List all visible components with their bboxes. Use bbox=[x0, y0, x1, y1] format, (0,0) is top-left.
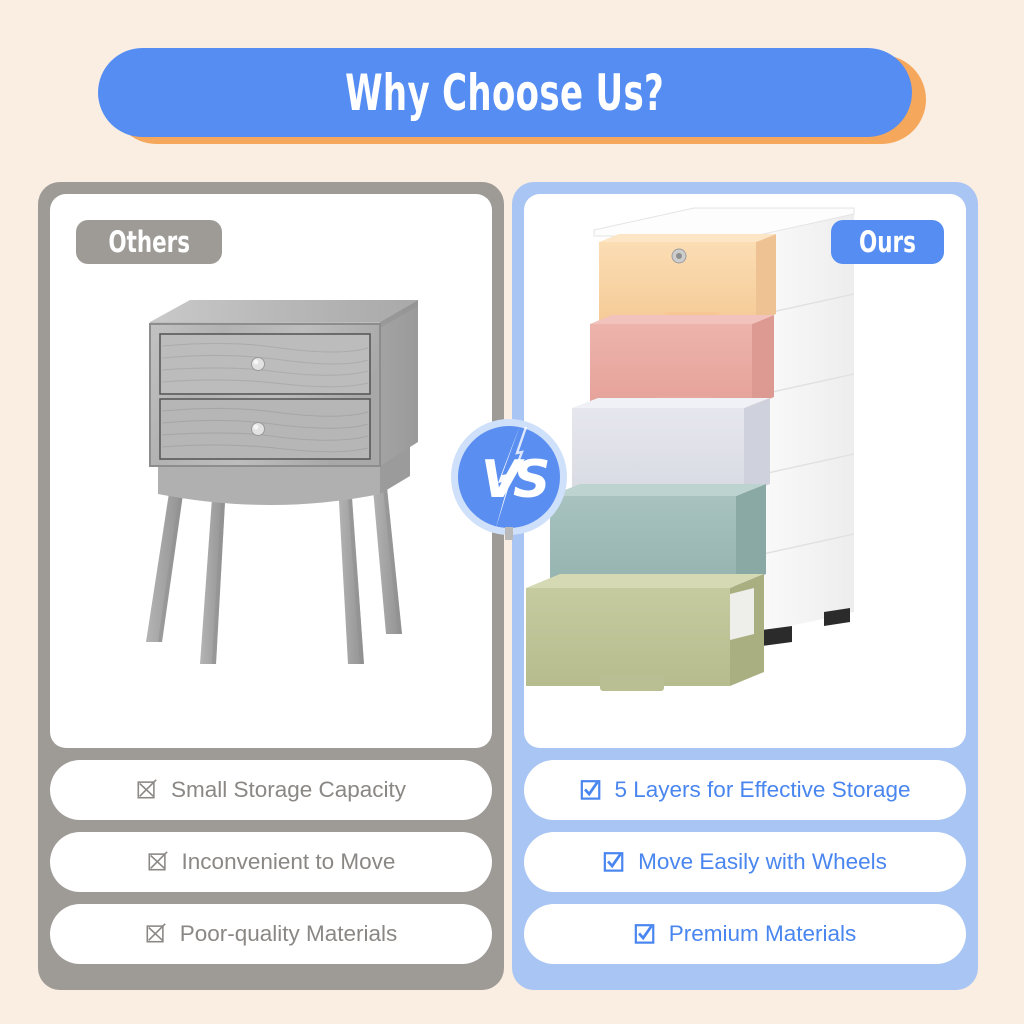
drawer-1 bbox=[599, 234, 776, 326]
crossed-box-icon bbox=[136, 778, 158, 800]
drawer-2 bbox=[590, 315, 774, 410]
ours-feature-list: 5 Layers for Effective Storage Move Easi… bbox=[524, 760, 966, 964]
panel-others: Others bbox=[38, 182, 504, 990]
drawer-5 bbox=[526, 574, 764, 691]
crossed-box-icon bbox=[145, 922, 167, 944]
list-item[interactable]: Poor-quality Materials bbox=[50, 904, 492, 964]
drawer-3 bbox=[572, 398, 770, 498]
checked-box-icon bbox=[603, 850, 625, 872]
badge-ours-label: Ours bbox=[859, 228, 916, 257]
others-image-card: Others bbox=[50, 194, 492, 748]
product-image-nightstand bbox=[50, 194, 492, 748]
infographic-canvas: Why Choose Us? Others bbox=[0, 0, 1024, 1024]
badge-others: Others bbox=[76, 220, 222, 264]
checked-box-icon bbox=[634, 922, 656, 944]
list-item[interactable]: Premium Materials bbox=[524, 904, 966, 964]
list-item-label: Small Storage Capacity bbox=[171, 779, 406, 802]
header-banner: Why Choose Us? bbox=[98, 48, 926, 144]
checked-box-icon bbox=[580, 778, 602, 800]
panel-ours: Ours bbox=[512, 182, 978, 990]
versus-badge: V S bbox=[447, 415, 572, 540]
badge-ours: Ours bbox=[831, 220, 944, 264]
header-pill: Why Choose Us? bbox=[98, 48, 912, 137]
page-title: Why Choose Us? bbox=[345, 68, 664, 118]
ours-image-card: Ours bbox=[524, 194, 966, 748]
list-item-label: 5 Layers for Effective Storage bbox=[615, 779, 911, 802]
list-item-label: Premium Materials bbox=[669, 923, 857, 946]
badge-others-label: Others bbox=[108, 228, 190, 257]
list-item[interactable]: Inconvenient to Move bbox=[50, 832, 492, 892]
list-item[interactable]: Move Easily with Wheels bbox=[524, 832, 966, 892]
list-item-label: Inconvenient to Move bbox=[182, 851, 396, 874]
product-image-storage-cabinet bbox=[524, 194, 966, 748]
versus-label: V S bbox=[481, 450, 550, 510]
list-item[interactable]: 5 Layers for Effective Storage bbox=[524, 760, 966, 820]
others-feature-list: Small Storage Capacity Inconvenient to M… bbox=[50, 760, 492, 964]
list-item[interactable]: Small Storage Capacity bbox=[50, 760, 492, 820]
list-item-label: Move Easily with Wheels bbox=[638, 851, 887, 874]
crossed-box-icon bbox=[147, 850, 169, 872]
list-item-label: Poor-quality Materials bbox=[180, 923, 398, 946]
